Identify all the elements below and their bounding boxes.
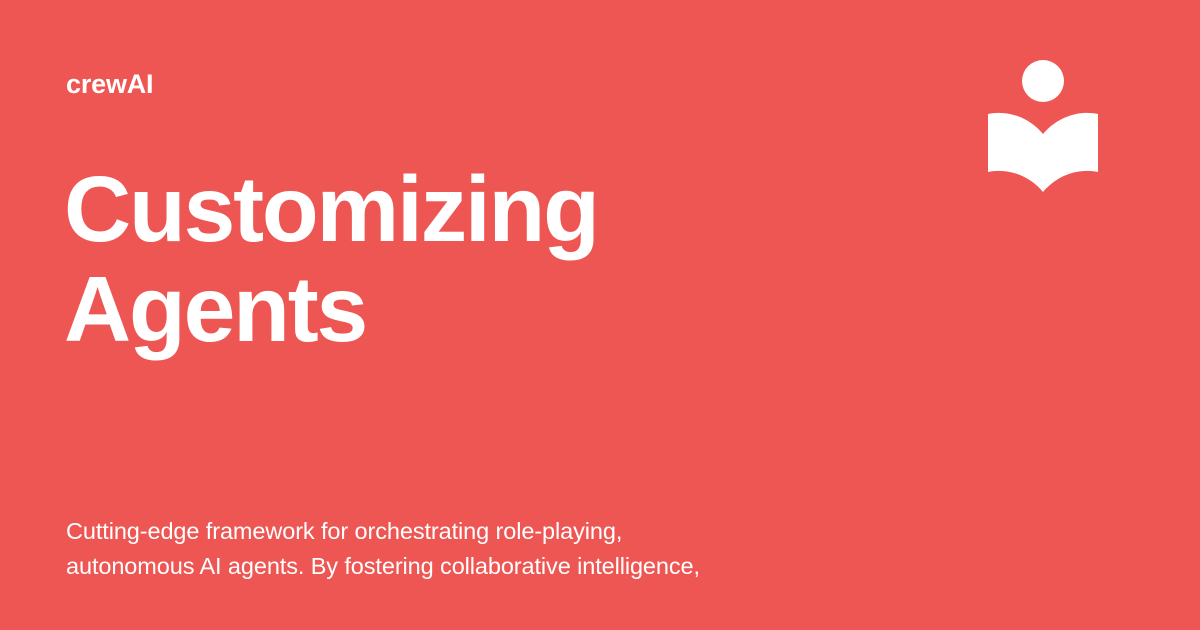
page-description: Cutting-edge framework for orchestrating…	[66, 514, 966, 584]
open-graph-card: crewAI Customizing Agents Cutting-edge f…	[0, 0, 1200, 630]
brand-name: crewAI	[66, 71, 153, 98]
reader-book-icon	[984, 58, 1104, 194]
page-title: Customizing Agents	[64, 160, 884, 359]
